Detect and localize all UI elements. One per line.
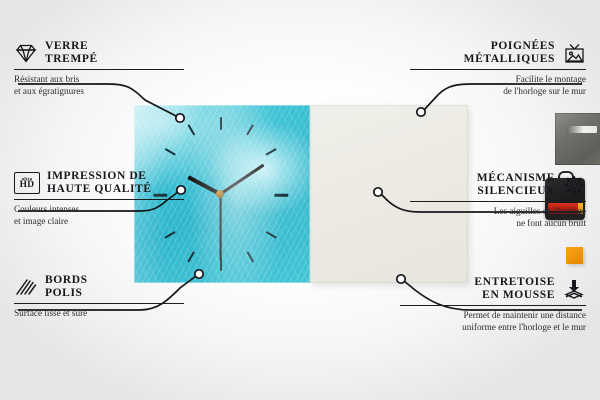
- ultra-hd-icon: ultra HD: [14, 172, 40, 194]
- feature-title-line1: ENTRETOISE: [474, 276, 555, 289]
- feature-header: MÉCANISME SILENCIEUX: [410, 172, 586, 198]
- feature-title-line2: POLIS: [45, 287, 88, 300]
- ultra-hd-big-text: HD: [20, 181, 35, 191]
- clock-minute-hand: [220, 164, 265, 196]
- clock-second-hand: [220, 194, 222, 260]
- gear-icon: [562, 174, 586, 196]
- feature-title-line2: SILENCIEUX: [477, 185, 555, 198]
- feature-header: VERRE TREMPÉ: [14, 40, 184, 66]
- feature-title-line1: IMPRESSION DE: [47, 170, 152, 183]
- clock-tick: [274, 194, 288, 197]
- feature-sub-line1: Couleurs intenses: [14, 204, 184, 216]
- feature-title-line2: MÉTALLIQUES: [464, 53, 555, 66]
- clock-tick: [220, 117, 222, 130]
- product-feature-infographic: VERRE TREMPÉ Résistant aux bris et aux é…: [0, 0, 600, 400]
- clock-hour-hand: [187, 175, 221, 195]
- feature-impression-haute-qualite: ultra HD IMPRESSION DE HAUTE QUALITÉ Cou…: [14, 170, 184, 227]
- metal-hanger-plate: [555, 113, 600, 165]
- clock-tick: [246, 124, 254, 136]
- divider: [14, 69, 184, 70]
- feature-mecanisme-silencieux: MÉCANISME SILENCIEUX Les aiguilles de l'…: [410, 172, 586, 229]
- feature-title-line1: BORDS: [45, 274, 88, 287]
- feature-title-line1: POIGNÉES: [464, 40, 555, 53]
- divider: [14, 199, 184, 200]
- feature-bords-polis: BORDS POLIS Surface lisse et sûre: [14, 274, 184, 320]
- feature-sub-line2: et image claire: [14, 216, 184, 228]
- feature-header: BORDS POLIS: [14, 274, 184, 300]
- divider: [14, 303, 184, 304]
- feature-sub-line1: Facilite le montage: [410, 74, 586, 86]
- feature-sub-line1: Résistant aux bris: [14, 74, 184, 86]
- foam-spacer: [566, 247, 583, 264]
- feature-sub-line2: et aux égratignures: [14, 86, 184, 98]
- diamond-icon: [14, 42, 38, 64]
- wall-mount-frame-icon: [562, 42, 586, 64]
- feature-sub-line2: ne font aucun bruit: [410, 218, 586, 230]
- feature-header: ENTRETOISE EN MOUSSE: [400, 276, 586, 302]
- clock-tick: [265, 231, 277, 239]
- clock-tick: [220, 258, 222, 271]
- divider: [410, 201, 586, 202]
- clock-tick: [187, 124, 195, 136]
- feature-header: POIGNÉES MÉTALLIQUES: [410, 40, 586, 66]
- clock-tick: [164, 231, 176, 239]
- hanger-slot: [567, 126, 597, 133]
- polished-edges-icon: [14, 276, 38, 298]
- clock-tick: [164, 148, 176, 156]
- feature-title-line2: HAUTE QUALITÉ: [47, 183, 152, 196]
- feature-header: ultra HD IMPRESSION DE HAUTE QUALITÉ: [14, 170, 184, 196]
- divider: [400, 305, 586, 306]
- feature-verre-trempe: VERRE TREMPÉ Résistant aux bris et aux é…: [14, 40, 184, 97]
- foam-spacer-arrow-icon: [562, 278, 586, 300]
- divider: [410, 69, 586, 70]
- feature-sub-line1: Les aiguilles de l'horloge: [410, 206, 586, 218]
- feature-sub-line1: Permet de maintenir une distance: [400, 310, 586, 322]
- clock-tick: [265, 148, 277, 156]
- clock-tick: [187, 251, 195, 263]
- feature-poignees-metalliques: POIGNÉES MÉTALLIQUES Facilite le montage…: [410, 40, 586, 97]
- clock-center-cap: [216, 190, 224, 198]
- feature-sub-line2: de l'horloge sur le mur: [410, 86, 586, 98]
- feature-sub-line2: uniforme entre l'horloge et le mur: [400, 322, 586, 334]
- feature-sub-line1: Surface lisse et sûre: [14, 308, 184, 320]
- feature-entretoise-en-mousse: ENTRETOISE EN MOUSSE Permet de maintenir…: [400, 276, 586, 333]
- feature-title-line2: TREMPÉ: [45, 53, 98, 66]
- feature-title-line2: EN MOUSSE: [474, 289, 555, 302]
- clock-tick: [246, 251, 254, 263]
- feature-title-line1: MÉCANISME: [477, 172, 555, 185]
- feature-title-line1: VERRE: [45, 40, 98, 53]
